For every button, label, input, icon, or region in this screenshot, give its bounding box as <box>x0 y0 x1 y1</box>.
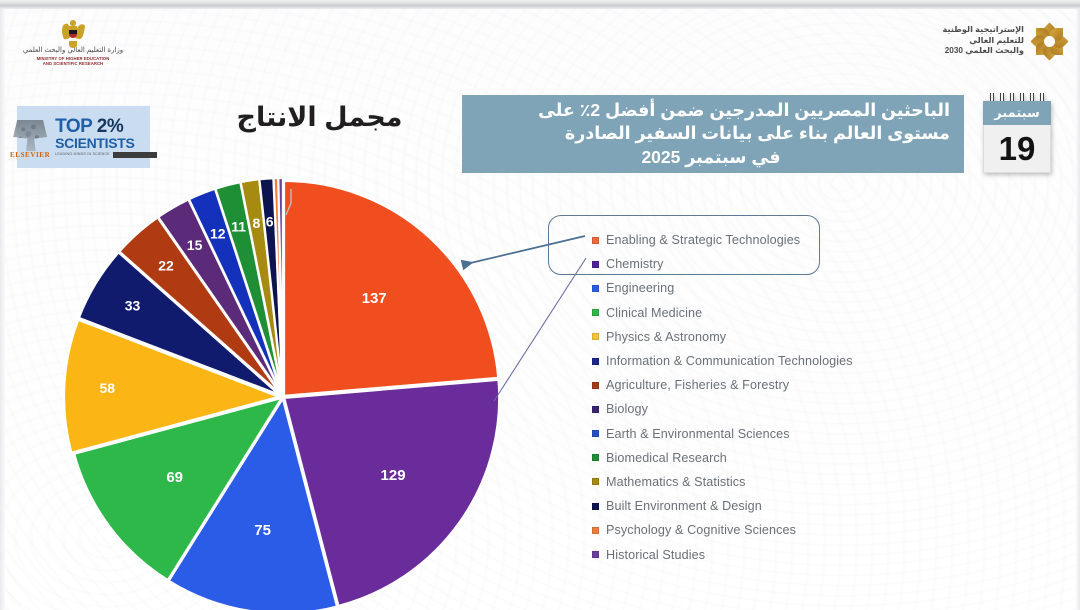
pie-slice-value: 15 <box>187 237 203 253</box>
eagle-emblem-icon <box>62 20 84 46</box>
legend-swatch-icon <box>592 237 599 244</box>
legend-item-label: Information & Communication Technologies <box>606 354 853 368</box>
legend-swatch-icon <box>592 478 599 485</box>
pie-slice-value: 12 <box>210 226 226 242</box>
legend-item[interactable]: Biomedical Research <box>592 446 992 470</box>
legend-swatch-icon <box>592 261 599 268</box>
chart-legend: Enabling & Strategic TechnologiesChemist… <box>592 228 992 567</box>
legend-item[interactable]: Built Environment & Design <box>592 494 992 518</box>
ministry-logo: وزارة التعليم العالي والبحث العلمي MINIS… <box>8 20 138 82</box>
ministry-name-english-1: MINISTRY OF HIGHER EDUCATION <box>37 56 110 61</box>
legend-swatch-icon <box>592 333 599 340</box>
legend-item[interactable]: Historical Studies <box>592 542 992 566</box>
legend-swatch-icon <box>592 285 599 292</box>
legend-item-label: Earth & Environmental Sciences <box>606 427 790 441</box>
legend-swatch-icon <box>592 430 599 437</box>
national-strategy-line-2: للتعليم العالي <box>943 36 1024 47</box>
elsevier-tree-icon <box>13 120 47 151</box>
top2-label: TOP <box>55 116 97 137</box>
legend-item[interactable]: Mathematics & Statistics <box>592 470 992 494</box>
elsevier-logo: ELSEVIER <box>10 115 50 159</box>
chart-title-arabic: مجمل الانتاج <box>212 103 427 133</box>
calendar-body: 19 <box>983 125 1051 173</box>
top2-percent: 2% <box>97 116 123 137</box>
top2-scientists-badge: ELSEVIER TOP 2% SCIENTISTS LEADING MINDS… <box>17 106 150 168</box>
legend-item-label: Psychology & Cognitive Sciences <box>606 523 796 537</box>
legend-swatch-icon <box>592 358 599 365</box>
legend-swatch-icon <box>592 382 599 389</box>
slide-top-band <box>0 0 1080 9</box>
legend-swatch-icon <box>592 454 599 461</box>
headline-banner: الباحثين المصريين المدرجين ضمن أفضل 2٪ ع… <box>462 95 964 173</box>
headline-line-2: مستوى العالم بناء على بيانات السفير الصا… <box>472 122 950 145</box>
legend-swatch-icon <box>592 503 599 510</box>
elsevier-wordmark: ELSEVIER <box>10 151 50 159</box>
legend-item-label: Enabling & Strategic Technologies <box>606 233 800 247</box>
legend-item[interactable]: Psychology & Cognitive Sciences <box>592 518 992 542</box>
legend-item[interactable]: Engineering <box>592 276 992 300</box>
legend-item-label: Built Environment & Design <box>606 499 762 513</box>
legend-swatch-icon <box>592 406 599 413</box>
ministry-name-arabic: وزارة التعليم العالي والبحث العلمي <box>23 47 123 54</box>
legend-swatch-icon <box>592 551 599 558</box>
legend-item[interactable]: Biology <box>592 397 992 421</box>
pie-chart: 13712975695833221512118622 <box>60 175 510 610</box>
flower-emblem-icon <box>1032 24 1066 58</box>
pie-slice-value: 8 <box>252 215 260 231</box>
calendar-icon: سبتمبر 19 <box>983 93 1051 175</box>
pie-slice-value: 58 <box>99 380 115 396</box>
national-strategy-logo: الإستراتيجية الوطنية للتعليم العالي والب… <box>943 24 1066 58</box>
pie-slice-value: 11 <box>231 219 246 235</box>
calendar-month: سبتمبر <box>994 105 1040 121</box>
legend-item-label: Historical Studies <box>606 548 705 562</box>
legend-item[interactable]: Information & Communication Technologies <box>592 349 992 373</box>
pie-slice-value: 33 <box>125 298 141 314</box>
legend-item[interactable]: Agriculture, Fisheries & Forestry <box>592 373 992 397</box>
national-strategy-line-1: الإستراتيجية الوطنية <box>943 25 1024 36</box>
slide-right-edge <box>1076 9 1080 610</box>
legend-item-label: Engineering <box>606 281 674 295</box>
scientists-label: SCIENTISTS <box>55 136 157 150</box>
legend-item[interactable]: Physics & Astronomy <box>592 325 992 349</box>
slide-left-edge <box>0 9 5 610</box>
calendar-day: 19 <box>999 132 1036 165</box>
legend-item-label: Clinical Medicine <box>606 306 702 320</box>
pie-slice-value: 22 <box>158 258 174 274</box>
legend-item[interactable]: Enabling & Strategic Technologies <box>592 228 992 252</box>
legend-item[interactable]: Clinical Medicine <box>592 301 992 325</box>
calendar-header: سبتمبر <box>983 101 1051 125</box>
legend-item-label: Physics & Astronomy <box>606 330 726 344</box>
pie-slice-value: 137 <box>362 290 387 307</box>
ministry-name-english-2: AND SCIENTIFIC RESEARCH <box>37 61 110 66</box>
legend-item-label: Biology <box>606 402 648 416</box>
legend-item-label: Biomedical Research <box>606 451 727 465</box>
legend-swatch-icon <box>592 309 599 316</box>
pie-slices <box>64 178 499 610</box>
legend-item-label: Mathematics & Statistics <box>606 475 746 489</box>
headline-line-3: في سبتمبر 2025 <box>472 146 950 169</box>
legend-item[interactable]: Earth & Environmental Sciences <box>592 422 992 446</box>
pie-slice[interactable] <box>284 181 498 396</box>
slide-canvas: وزارة التعليم العالي والبحث العلمي MINIS… <box>0 0 1080 610</box>
pie-slice-value: 129 <box>381 467 406 484</box>
legend-item-label: Agriculture, Fisheries & Forestry <box>606 378 789 392</box>
legend-item-label: Chemistry <box>606 257 664 271</box>
pie-slice-value: 75 <box>254 522 271 539</box>
national-strategy-line-3: والبحث العلمي 2030 <box>943 46 1024 57</box>
headline-line-1: الباحثين المصريين المدرجين ضمن أفضل 2٪ ع… <box>472 99 950 122</box>
pie-slice-value: 6 <box>266 214 274 230</box>
pie-slice-value: 69 <box>166 469 183 486</box>
legend-swatch-icon <box>592 527 599 534</box>
top2-tagline: LEADING MINDS IN SCIENCE <box>55 153 110 157</box>
top2-bar-decoration <box>113 152 157 158</box>
pie-chart-svg: 13712975695833221512118622 <box>60 175 510 610</box>
legend-item[interactable]: Chemistry <box>592 252 992 276</box>
